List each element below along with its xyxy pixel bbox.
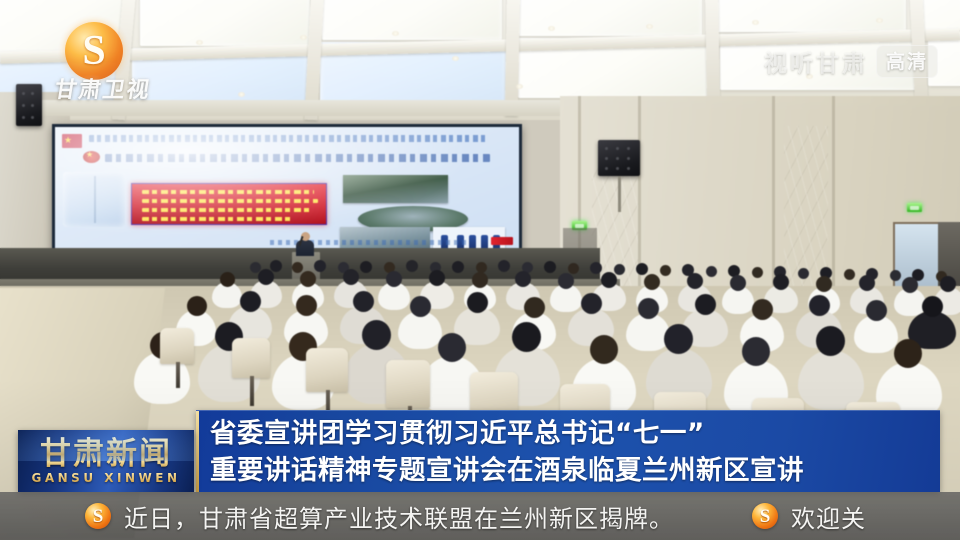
channel-name: 甘肃卫视 xyxy=(52,72,153,104)
ticker-text: 欢迎关 xyxy=(791,499,866,534)
news-ticker: S 近日，甘肃省超算产业技术联盟在兰州新区揭牌。 S 欢迎关 xyxy=(0,492,960,540)
ceiling-downlight xyxy=(876,18,883,23)
program-name-en: GANSU XINWEN xyxy=(32,472,181,485)
ceiling-downlight xyxy=(548,26,555,31)
program-logo: 甘肃新闻 GANSU XINWEN xyxy=(18,430,194,492)
gansu-tv-s-orb-icon: S xyxy=(752,503,778,529)
headline-banner: 省委宣讲团学习贯彻习近平总书记“七一” 重要讲话精神专题宣讲会在酒泉临夏兰州新区… xyxy=(196,410,940,492)
channel-bug: S 甘肃卫视 xyxy=(55,22,205,100)
ticker-item: S 近日，甘肃省超算产业技术联盟在兰州新区揭牌。 xyxy=(85,499,674,534)
s-logo-glyph: S xyxy=(85,503,111,529)
s-logo-glyph: S xyxy=(752,503,778,529)
ceiling-downlight xyxy=(752,20,759,25)
ticker-item: S 欢迎关 xyxy=(752,499,866,534)
hd-quality-badge: 高清 xyxy=(876,45,938,78)
watermark-text: 视听甘肃 xyxy=(764,44,868,78)
ceiling-downlight xyxy=(452,56,459,61)
headline-line-2: 重要讲话精神专题宣讲会在酒泉临夏兰州新区宣讲 xyxy=(210,452,932,489)
exit-sign-icon xyxy=(907,203,922,212)
watermark: 视听甘肃 高清 xyxy=(764,44,938,78)
headline-line-1: 省委宣讲团学习贯彻习近平总书记“七一” xyxy=(210,415,932,452)
lower-third: 省委宣讲团学习贯彻习近平总书记“七一” 重要讲话精神专题宣讲会在酒泉临夏兰州新区… xyxy=(0,404,960,498)
broadcast-frame: ★ xyxy=(0,0,960,540)
gansu-tv-s-orb-icon: S xyxy=(85,503,111,529)
ceiling-downlight xyxy=(392,31,399,36)
program-name-cn: 甘肃新闻 xyxy=(40,437,172,471)
led-presentation-screen: ★ xyxy=(52,124,522,254)
ceiling-downlight xyxy=(516,84,523,89)
ceiling-downlight xyxy=(238,92,245,97)
ceiling-speaker xyxy=(598,140,640,176)
ceiling-downlight xyxy=(300,35,307,40)
ceiling-speaker xyxy=(16,84,42,126)
ticker-text: 近日，甘肃省超算产业技术联盟在兰州新区揭牌。 xyxy=(124,499,674,534)
ceiling-downlight xyxy=(646,24,653,29)
